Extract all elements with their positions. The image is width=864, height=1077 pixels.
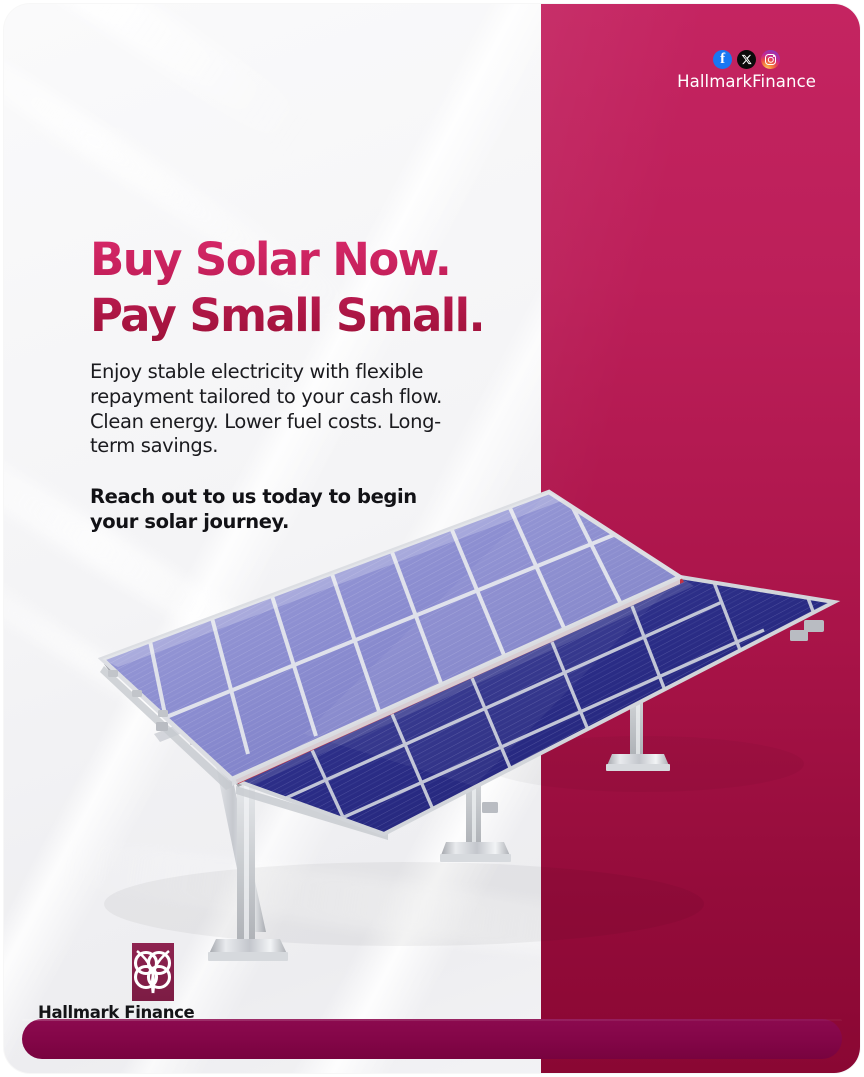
facebook-icon[interactable]: f xyxy=(713,50,732,69)
social-icons: f xyxy=(677,50,816,69)
poster-canvas: f HallmarkFinance Buy Solar Now. Pay Sma… xyxy=(4,4,860,1073)
light-streak xyxy=(4,4,312,151)
social-handle: HallmarkFinance xyxy=(677,72,816,91)
background-right-magenta-panel xyxy=(541,4,860,1073)
light-streak xyxy=(4,498,328,817)
poster-root: f HallmarkFinance Buy Solar Now. Pay Sma… xyxy=(0,0,864,1077)
subcopy: Enjoy stable electricity with flexible r… xyxy=(90,360,480,460)
copy-block: Buy Solar Now. Pay Small Small. Enjoy st… xyxy=(90,232,540,535)
cta-text: Reach out to us today to begin your sola… xyxy=(90,485,540,534)
social-cluster: f HallmarkFinance xyxy=(677,50,816,91)
instagram-icon[interactable] xyxy=(761,50,780,69)
x-twitter-icon[interactable] xyxy=(737,50,756,69)
footer-bar xyxy=(22,1019,842,1059)
headline: Buy Solar Now. Pay Small Small. xyxy=(90,232,540,344)
hallmark-logo-mark xyxy=(132,943,174,1001)
instagram-glyph xyxy=(765,54,776,65)
